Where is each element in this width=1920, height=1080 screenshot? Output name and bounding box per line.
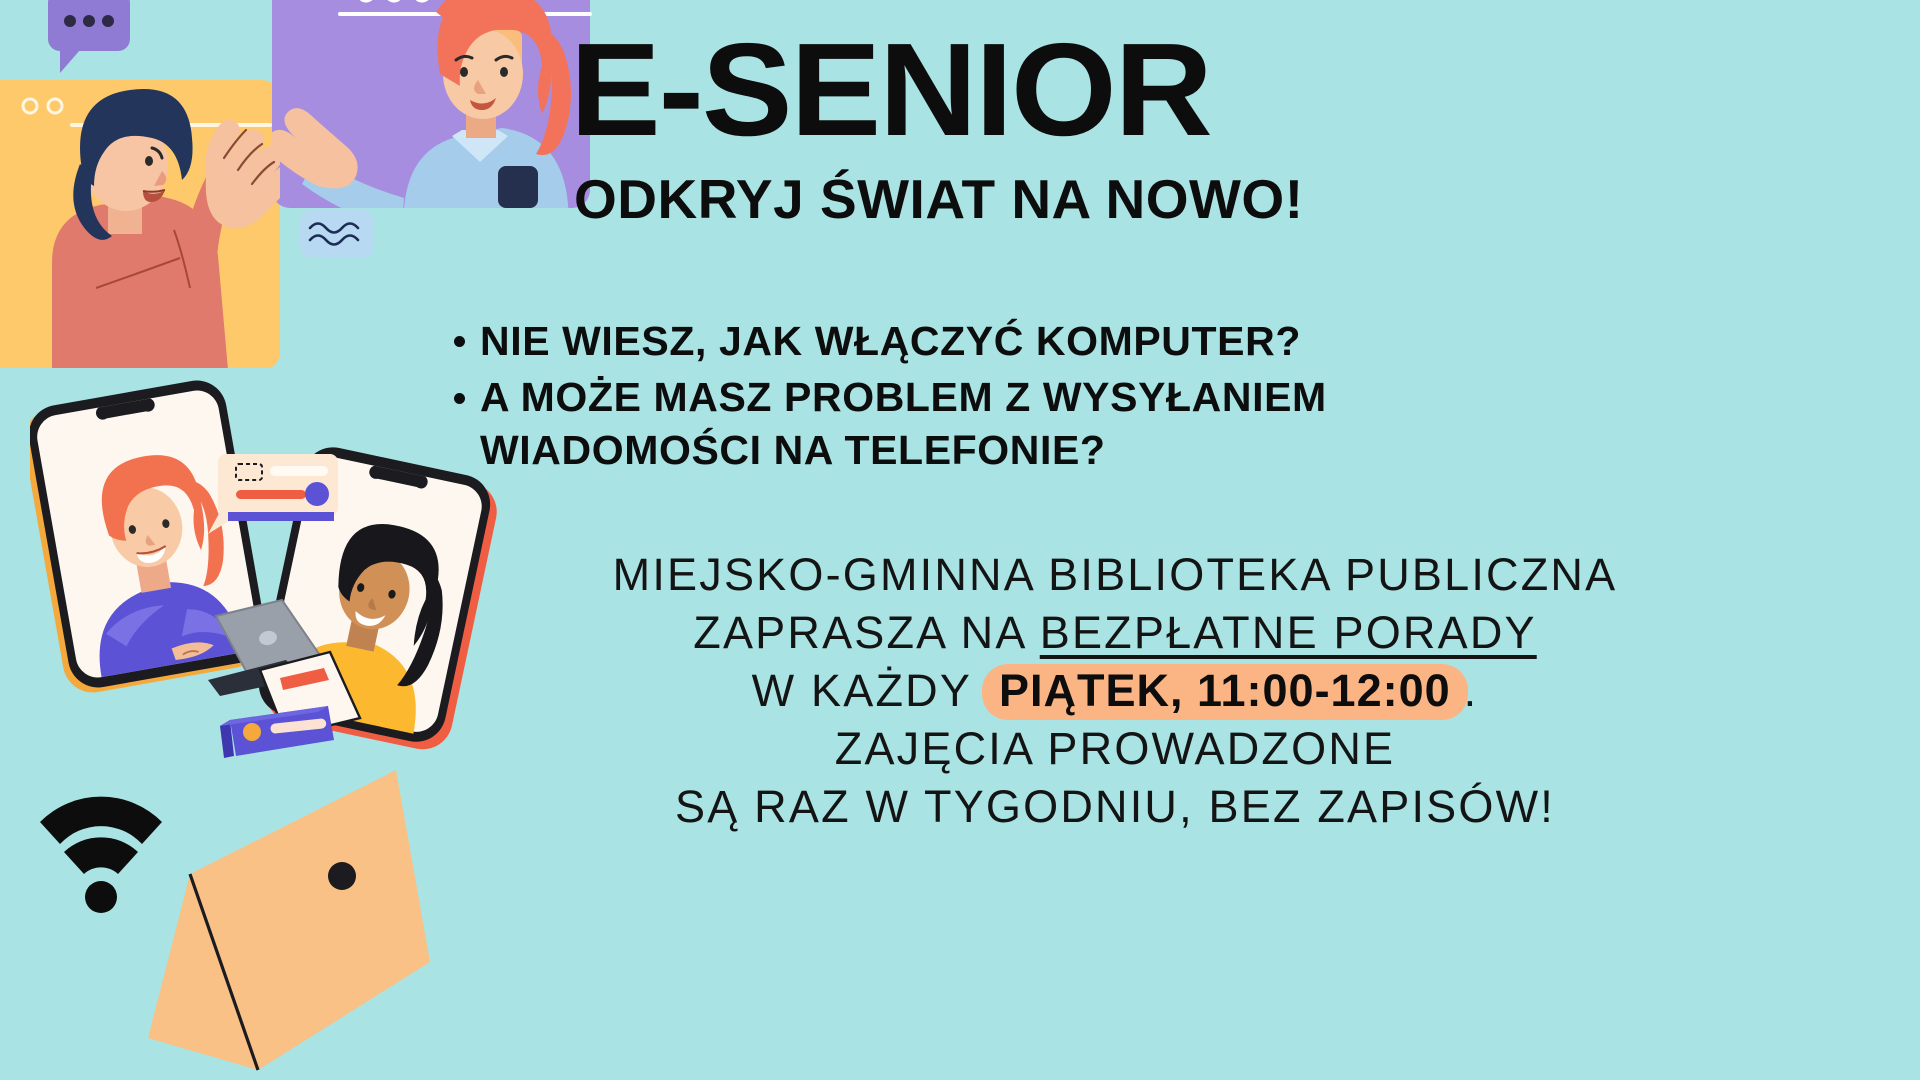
details-line-3-suffix: . <box>1464 665 1479 716</box>
video-call-high-five-illustration <box>0 0 600 368</box>
bullet-text: A MOŻE MASZ PROBLEM Z WYSYŁANIEM <box>480 374 1327 420</box>
list-item: NIE WIESZ, JAK WŁĄCZYĆ KOMPUTER? <box>450 315 1770 367</box>
list-item: A MOŻE MASZ PROBLEM Z WYSYŁANIEM WIADOMO… <box>450 371 1770 476</box>
bullet-dot-icon <box>454 393 465 404</box>
schedule-highlight-badge: PIĄTEK, 11:00-12:00 <box>982 664 1468 720</box>
poster-text-column: E-SENIOR ODKRYJ ŚWIAT NA NOWO! NIE WIESZ… <box>560 0 1910 1080</box>
details-line-4: ZAJĘCIA PROWADZONE <box>450 720 1780 778</box>
free-advice-emphasis: BEZPŁATNE PORADY <box>1040 607 1537 658</box>
wave-bubble-icon <box>300 210 374 258</box>
bullet-text-wrap: WIADOMOŚCI NA TELEFONIE? <box>480 427 1106 473</box>
open-laptop-illustration <box>120 770 500 1080</box>
bullet-dot-icon <box>454 336 465 347</box>
details-line-5: SĄ RAZ W TYGODNIU, BEZ ZAPISÓW! <box>450 778 1780 836</box>
question-bullet-list: NIE WIESZ, JAK WŁĄCZYĆ KOMPUTER? A MOŻE … <box>450 315 1770 480</box>
details-line-3-prefix: W KAŻDY <box>752 665 986 716</box>
two-phones-video-chat-illustration <box>30 380 500 780</box>
details-line-2: ZAPRASZA NA BEZPŁATNE PORADY <box>450 604 1780 662</box>
details-line-1: MIEJSKO-GMINNA BIBLIOTEKA PUBLICZNA <box>450 546 1780 604</box>
details-paragraph: MIEJSKO-GMINNA BIBLIOTEKA PUBLICZNA ZAPR… <box>450 546 1780 836</box>
chat-bubble-dots-icon <box>48 0 130 73</box>
details-line-2-prefix: ZAPRASZA NA <box>693 607 1040 658</box>
page-subtitle: ODKRYJ ŚWIAT NA NOWO! <box>574 172 1304 227</box>
bullet-text: NIE WIESZ, JAK WŁĄCZYĆ KOMPUTER? <box>480 318 1301 364</box>
poster-canvas: E-SENIOR ODKRYJ ŚWIAT NA NOWO! NIE WIESZ… <box>0 0 1920 1080</box>
credit-card-icon <box>220 706 334 758</box>
details-line-3: W KAŻDY PIĄTEK, 11:00-12:00. <box>450 662 1780 720</box>
page-title: E-SENIOR <box>570 28 1211 152</box>
